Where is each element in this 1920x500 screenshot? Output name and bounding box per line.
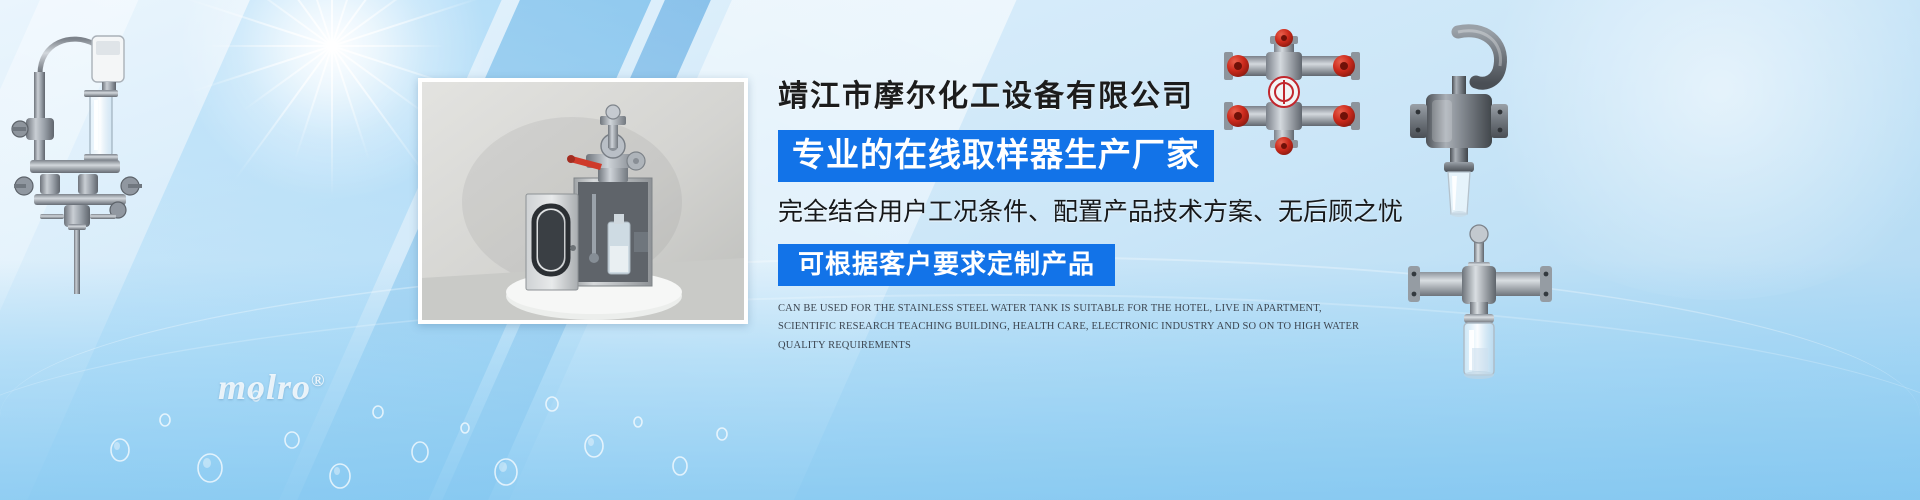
water-droplets-icon [60,300,760,500]
right-top-equipment-valve-manifold [1212,22,1372,162]
product-photo-online-sampler-cabinet [418,78,748,324]
promo-banner: 靖江市摩尔化工设备有限公司 专业的在线取样器生产厂家 完全结合用户工况条件、配置… [0,0,1920,500]
right-bottom-equipment-inline-sampler [1400,222,1570,392]
watermark-text: molro [218,367,311,407]
watermark-logo: molro® [218,366,325,408]
custom-order-badge: 可根据客户要求定制产品 [778,244,1115,286]
registered-mark-icon: ® [311,370,325,390]
right-mid-equipment-lever-handle-valve [1400,20,1520,230]
subline-text: 完全结合用户工况条件、配置产品技术方案、无后顾之忧 [778,200,1398,225]
english-description: CAN BE USED FOR THE STAINLESS STEEL WATE… [778,300,1373,355]
headline-badge: 专业的在线取样器生产厂家 [778,130,1214,182]
left-equipment-sampling-valve-assembly [6,18,176,298]
